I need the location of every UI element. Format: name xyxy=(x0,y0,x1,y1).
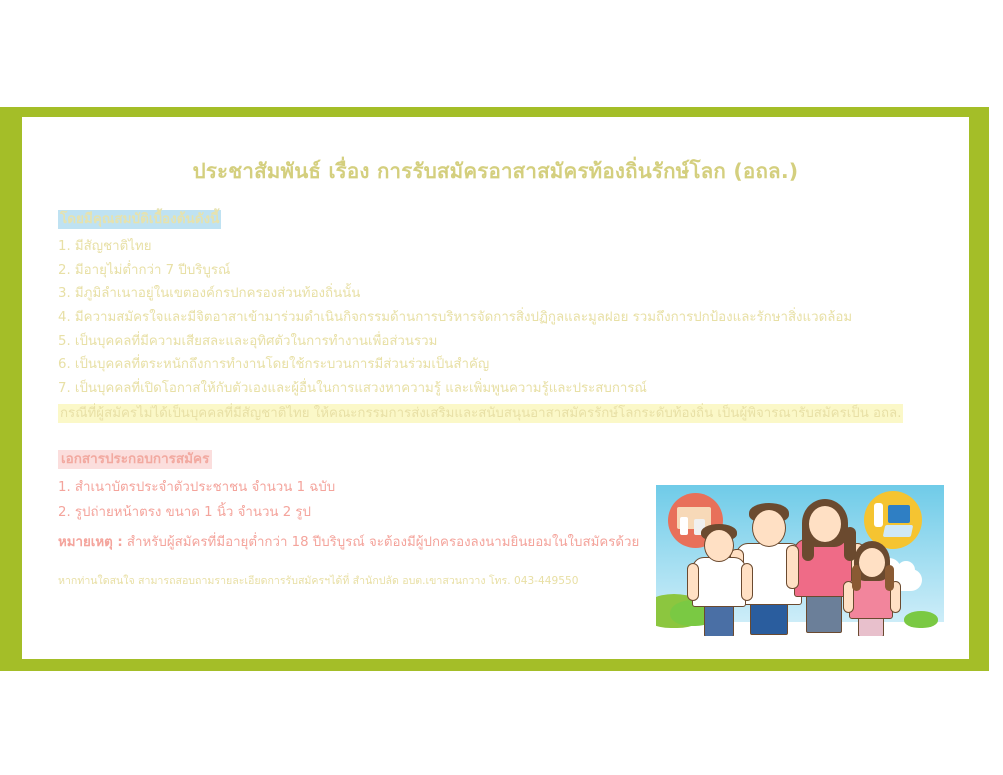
poster-green-frame: ประชาสัมพันธ์ เรื่อง การรับสมัครอาสาสมัค… xyxy=(0,107,989,671)
legs-shape xyxy=(750,603,788,635)
family-recycling-illustration xyxy=(656,485,944,636)
remark-text: สำหรับผู้สมัครที่มีอายุต่ำกว่า 18 ปีบริบ… xyxy=(123,535,640,550)
head-shape xyxy=(858,547,886,578)
figure-boy xyxy=(690,485,750,636)
list-item: 3. มีภูมิลำเนาอยู่ในเขตองค์กรปกครองส่วนท… xyxy=(58,282,948,306)
arm-shape xyxy=(786,545,799,589)
qualifications-note: กรณีที่ผู้สมัครไม่ได้เป็นบุคคลที่มีสัญชา… xyxy=(58,404,903,423)
poster-white-sheet: ประชาสัมพันธ์ เรื่อง การรับสมัครอาสาสมัค… xyxy=(22,117,969,659)
arm-shape xyxy=(687,563,699,601)
page-title: ประชาสัมพันธ์ เรื่อง การรับสมัครอาสาสมัค… xyxy=(22,155,969,188)
figure-girl xyxy=(846,485,898,636)
list-item: 2. รูปถ่ายหน้าตรง ขนาด 1 นิ้ว จำนวน 2 รู… xyxy=(58,500,618,525)
documents-heading: เอกสารประกอบการสมัคร xyxy=(58,450,212,469)
qualifications-heading: โดยมีคุณสมบัติเบื้องต้นดังนี้ xyxy=(58,210,221,229)
qualifications-section: โดยมีคุณสมบัติเบื้องต้นดังนี้ 1. มีสัญชา… xyxy=(58,210,948,423)
documents-remark: หมายเหตุ : สำหรับผู้สมัครที่มีอายุต่ำกว่… xyxy=(58,525,618,552)
list-item: 6. เป็นบุคคลที่ตระหนักถึงการทำงานโดยใช้ก… xyxy=(58,353,948,377)
list-item: 1. มีสัญชาติไทย xyxy=(58,235,948,259)
head-shape xyxy=(808,505,842,543)
list-item: 1. สำเนาบัตรประจำตัวประชาชน จำนวน 1 ฉบับ xyxy=(58,475,618,500)
arm-shape xyxy=(741,563,753,601)
poster-page: ประชาสัมพันธ์ เรื่อง การรับสมัครอาสาสมัค… xyxy=(0,0,1003,775)
bush-icon xyxy=(904,611,938,628)
legs-shape xyxy=(704,605,734,636)
head-shape xyxy=(752,509,786,547)
list-item: 2. มีอายุไม่ต่ำกว่า 7 ปีบริบูรณ์ xyxy=(58,259,948,283)
bottle-shape xyxy=(680,517,688,535)
remark-label: หมายเหตุ : xyxy=(58,535,123,550)
qualifications-list: 1. มีสัญชาติไทย 2. มีอายุไม่ต่ำกว่า 7 ปี… xyxy=(58,235,948,401)
head-shape xyxy=(704,529,734,562)
list-item: 7. เป็นบุคคลที่เปิดโอกาสให้กับตัวเองและผ… xyxy=(58,377,948,401)
shirt-shape xyxy=(692,557,746,607)
hair-strand-shape xyxy=(885,565,894,591)
legs-shape xyxy=(806,595,842,633)
documents-section: เอกสารประกอบการสมัคร 1. สำเนาบัตรประจำตั… xyxy=(58,450,618,552)
list-item: 5. เป็นบุคคลที่มีความเสียสละและอุทิศตัวใ… xyxy=(58,330,948,354)
contact-info: หากท่านใดสนใจ สามารถสอบถามรายละเอียดการร… xyxy=(58,572,578,589)
documents-list: 1. สำเนาบัตรประจำตัวประชาชน จำนวน 1 ฉบับ… xyxy=(58,475,618,526)
legs-shape xyxy=(858,617,884,636)
list-item: 4. มีความสมัครใจและมีจิตอาสาเข้ามาร่วมดำ… xyxy=(58,306,948,330)
